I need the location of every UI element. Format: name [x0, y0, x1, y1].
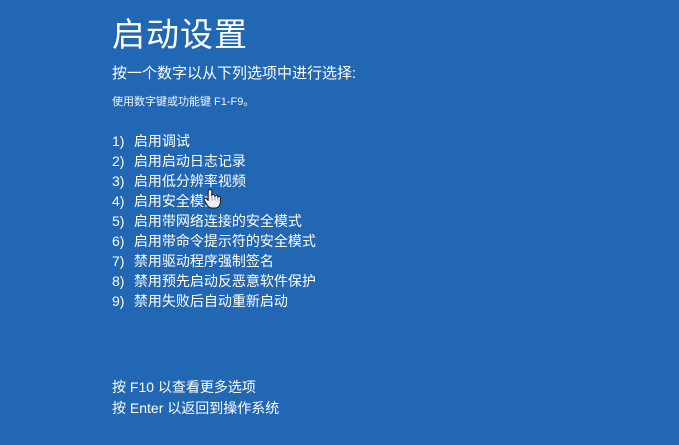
startup-option-label: 启用低分辨率视频 [134, 173, 246, 189]
footer-instructions: 按 F10 以查看更多选项按 Enter 以返回到操作系统 [112, 377, 532, 419]
startup-option-2[interactable]: 2) 启用启动日志记录 [112, 151, 532, 171]
startup-option-number: 8) [112, 271, 130, 291]
startup-option-label: 禁用驱动程序强制签名 [134, 253, 274, 269]
startup-option-5[interactable]: 5) 启用带网络连接的安全模式 [112, 211, 532, 231]
startup-option-number: 9) [112, 291, 130, 311]
startup-option-label: 启用带命令提示符的安全模式 [134, 233, 316, 249]
startup-option-label: 禁用失败后自动重新启动 [134, 293, 288, 309]
startup-option-number: 6) [112, 231, 130, 251]
footer-instruction-line-1: 按 F10 以查看更多选项 [112, 377, 532, 398]
startup-option-1[interactable]: 1) 启用调试 [112, 131, 532, 151]
startup-option-number: 4) [112, 191, 130, 211]
startup-option-9[interactable]: 9) 禁用失败后自动重新启动 [112, 291, 532, 311]
startup-option-number: 7) [112, 251, 130, 271]
startup-settings-screen: 启动设置 按一个数字以从下列选项中进行选择: 使用数字键或功能键 F1-F9。 … [0, 0, 679, 445]
subtitle-instruction: 按一个数字以从下列选项中进行选择: [112, 64, 356, 84]
startup-option-8[interactable]: 8) 禁用预先启动反恶意软件保护 [112, 271, 532, 291]
startup-option-label: 启用启动日志记录 [134, 153, 246, 169]
startup-option-number: 5) [112, 211, 130, 231]
keyboard-hint-text: 使用数字键或功能键 F1-F9。 [112, 94, 254, 110]
startup-option-label: 禁用预先启动反恶意软件保护 [134, 273, 316, 289]
startup-option-number: 1) [112, 131, 130, 151]
startup-option-number: 3) [112, 171, 130, 191]
startup-option-4[interactable]: 4) 启用安全模式 [112, 191, 532, 211]
startup-option-6[interactable]: 6) 启用带命令提示符的安全模式 [112, 231, 532, 251]
startup-option-label: 启用带网络连接的安全模式 [134, 213, 302, 229]
startup-options-list: 1) 启用调试2) 启用启动日志记录3) 启用低分辨率视频4) 启用安全模式5)… [112, 131, 532, 311]
startup-option-label: 启用调试 [134, 133, 190, 149]
footer-instruction-line-2: 按 Enter 以返回到操作系统 [112, 398, 532, 419]
startup-option-7[interactable]: 7) 禁用驱动程序强制签名 [112, 251, 532, 271]
page-title: 启动设置 [112, 14, 248, 56]
startup-option-3[interactable]: 3) 启用低分辨率视频 [112, 171, 532, 191]
startup-option-number: 2) [112, 151, 130, 171]
startup-option-label: 启用安全模式 [134, 193, 218, 209]
